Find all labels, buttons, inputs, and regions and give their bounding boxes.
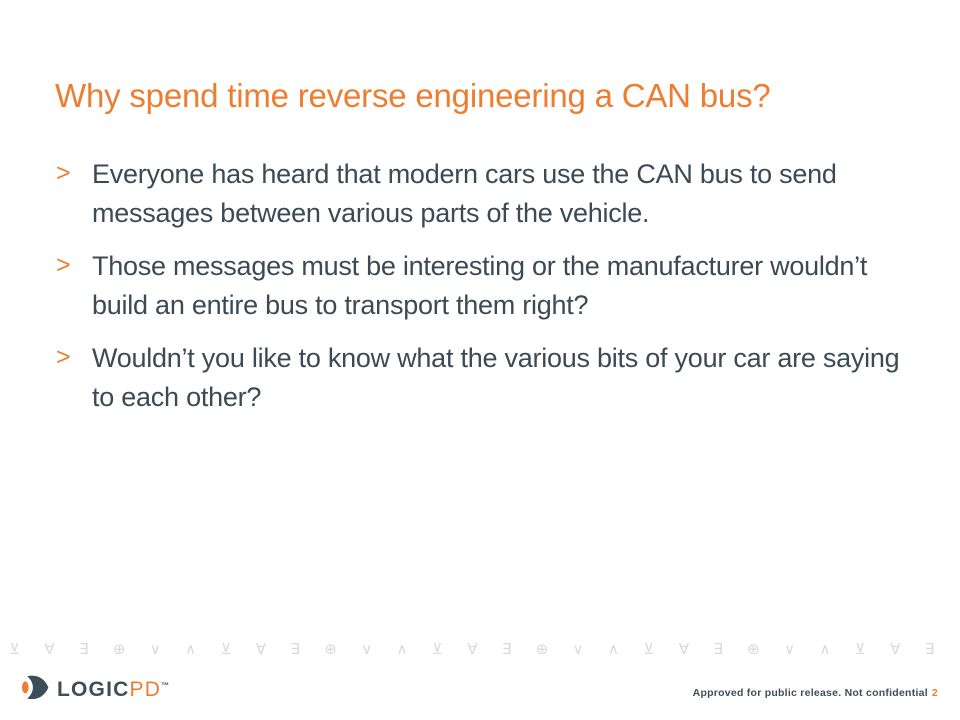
bullet-text: Everyone has heard that modern cars use …: [92, 155, 920, 233]
disclaimer-text: Approved for public release. Not confide…: [693, 687, 928, 699]
page-number: 2: [932, 687, 938, 699]
logo: LOGICPD™: [22, 672, 169, 702]
list-item: > Those messages must be interesting or …: [50, 247, 920, 325]
logic-pd-chevron-icon: [22, 675, 49, 700]
bullet-marker-icon: >: [56, 249, 71, 281]
list-item: > Everyone has heard that modern cars us…: [50, 155, 920, 233]
bullet-text: Wouldn’t you like to know what the vario…: [92, 339, 920, 417]
bullet-text: Those messages must be interesting or th…: [92, 247, 920, 325]
list-item: > Wouldn’t you like to know what the var…: [50, 339, 920, 417]
logo-wordmark: LOGICPD™: [57, 673, 169, 702]
bullet-marker-icon: >: [56, 157, 71, 189]
trademark-icon: ™: [161, 681, 169, 690]
logo-text-logic: LOGIC: [57, 678, 130, 701]
bullet-marker-icon: >: [56, 341, 71, 373]
footer-disclaimer: Approved for public release. Not confide…: [693, 686, 938, 700]
bullet-list: > Everyone has heard that modern cars us…: [50, 155, 920, 431]
logo-text-pd: PD: [130, 678, 162, 701]
slide-canvas: Why spend time reverse engineering a CAN…: [0, 0, 960, 720]
decorative-glyph-divider: ⊻ ∀ ∃ ⊕ ∨ ∧ ⊻ ∀ ∃ ⊕ ∨ ∧ ⊻ ∀ ∃ ⊕ ∨ ∧ ⊻ ∀ …: [0, 638, 960, 660]
page-title: Why spend time reverse engineering a CAN…: [55, 76, 915, 116]
